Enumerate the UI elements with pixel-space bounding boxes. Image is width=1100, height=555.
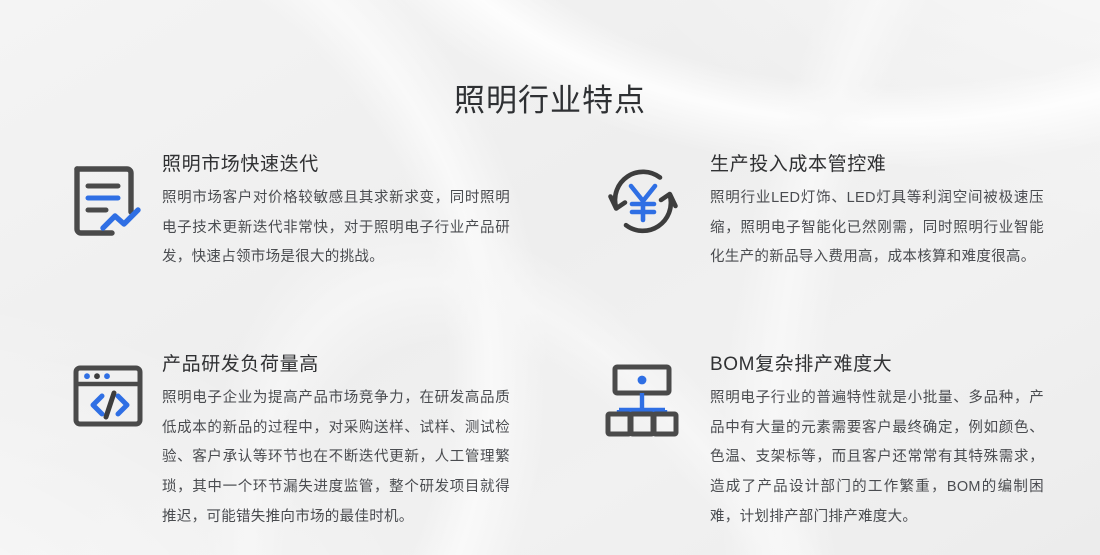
- card-text-block: 产品研发负荷量高 照明电子企业为提高产品市场竞争力，在研发高品质低成本的新品的过…: [162, 350, 538, 533]
- card-text-block: BOM复杂排产难度大 照明电子行业的普遍特性就是小批量、多品种，产品中有大量的元…: [696, 350, 1052, 533]
- hierarchy-bom-icon: [602, 350, 696, 446]
- card-heading: 生产投入成本管控难: [710, 152, 1052, 178]
- card-text-block: 生产投入成本管控难 照明行业LED灯饰、LED灯具等利润空间被极速压缩，照明电子…: [696, 150, 1052, 273]
- content-layer: 照明行业特点 照明市场快速迭代 照明市场客户对价格较敏感且其求新: [0, 0, 1100, 555]
- card-body: 照明电子企业为提高产品市场竞争力，在研发高品质低成本的新品的过程中，对采购送样、…: [162, 384, 510, 533]
- card-body: 照明行业LED灯饰、LED灯具等利润空间被极速压缩，照明电子智能化已然刚需，同时…: [710, 184, 1044, 274]
- card-heading: BOM复杂排产难度大: [710, 352, 1052, 378]
- card-text-block: 照明市场快速迭代 照明市场客户对价格较敏感且其求新求变，同时照明电子技术更新迭代…: [162, 150, 538, 273]
- refresh-yuan-icon: [602, 150, 696, 246]
- page-title: 照明行业特点: [0, 75, 1100, 120]
- feature-card-cost-control: 生产投入成本管控难 照明行业LED灯饰、LED灯具等利润空间被极速压缩，照明电子…: [602, 150, 1052, 273]
- document-chart-icon: [68, 150, 162, 246]
- page-root: 照明行业特点 照明市场快速迭代 照明市场客户对价格较敏感且其求新: [0, 0, 1100, 555]
- card-heading: 照明市场快速迭代: [162, 152, 538, 178]
- card-body: 照明电子行业的普遍特性就是小批量、多品种，产品中有大量的元素需要客户最终确定，例…: [710, 384, 1044, 533]
- feature-card-rnd-load: 产品研发负荷量高 照明电子企业为提高产品市场竞争力，在研发高品质低成本的新品的过…: [68, 350, 538, 533]
- browser-code-icon: [68, 350, 162, 446]
- card-body: 照明市场客户对价格较敏感且其求新求变，同时照明电子技术更新迭代非常快，对于照明电…: [162, 184, 510, 274]
- feature-card-bom-complexity: BOM复杂排产难度大 照明电子行业的普遍特性就是小批量、多品种，产品中有大量的元…: [602, 350, 1052, 533]
- card-heading: 产品研发负荷量高: [162, 352, 538, 378]
- feature-card-lighting-market: 照明市场快速迭代 照明市场客户对价格较敏感且其求新求变，同时照明电子技术更新迭代…: [68, 150, 538, 273]
